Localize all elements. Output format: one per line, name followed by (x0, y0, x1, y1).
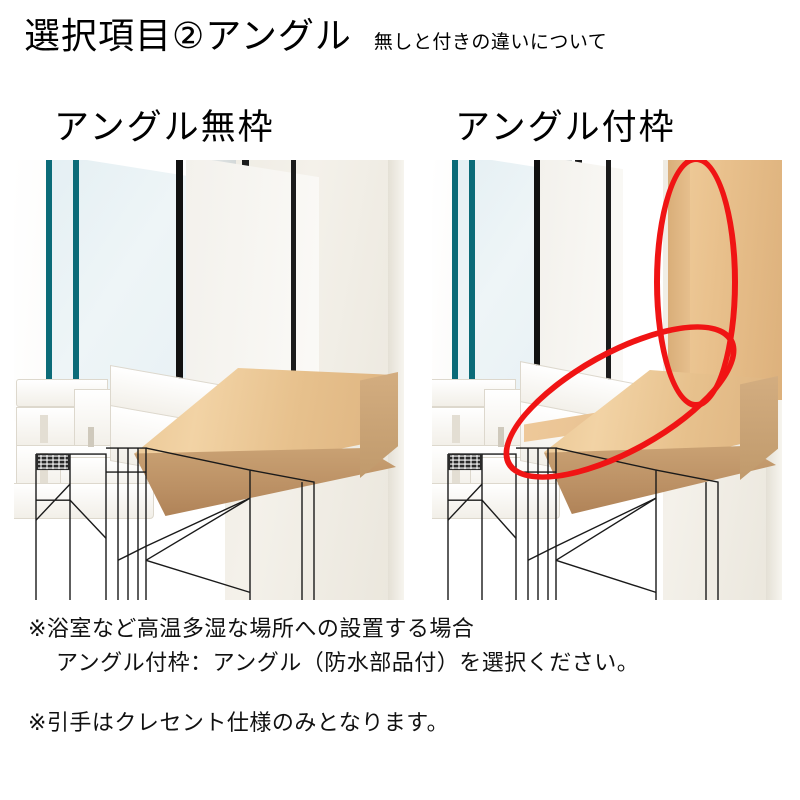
wall-construction-wireframe (14, 442, 404, 600)
profile-shadow-1 (40, 415, 48, 443)
window-cross-section-with-angle (432, 160, 782, 600)
panel-caption-angle-none: アングル無枠 (54, 110, 275, 145)
illustration-angle-none (14, 160, 404, 600)
wireframe-svg (14, 442, 404, 600)
profile-shadow-1 (452, 415, 460, 443)
illustration-angle-with (432, 160, 782, 600)
page-header: 選択項目②アングル 無しと付きの違いについて (24, 18, 784, 66)
page-root: 選択項目②アングル 無しと付きの違いについて アングル無枠 アングル付枠 (0, 0, 800, 800)
window-cross-section-no-angle (14, 160, 404, 600)
page-subtitle: 無しと付きの違いについて (374, 27, 607, 54)
note-bathroom-line-2: アングル付枠：アングル（防水部品付）を選択ください。 (28, 646, 768, 680)
note-bathroom-line-1: ※浴室など高温多湿な場所への設置する場合 (28, 612, 768, 646)
panel-caption-angle-with: アングル付枠 (455, 110, 676, 145)
footnotes: ※浴室など高温多湿な場所への設置する場合 アングル付枠：アングル（防水部品付）を… (28, 612, 768, 740)
page-title: 選択項目②アングル (24, 18, 352, 54)
note-crescent-handle: ※引手はクレセント仕様のみとなります。 (28, 706, 768, 740)
